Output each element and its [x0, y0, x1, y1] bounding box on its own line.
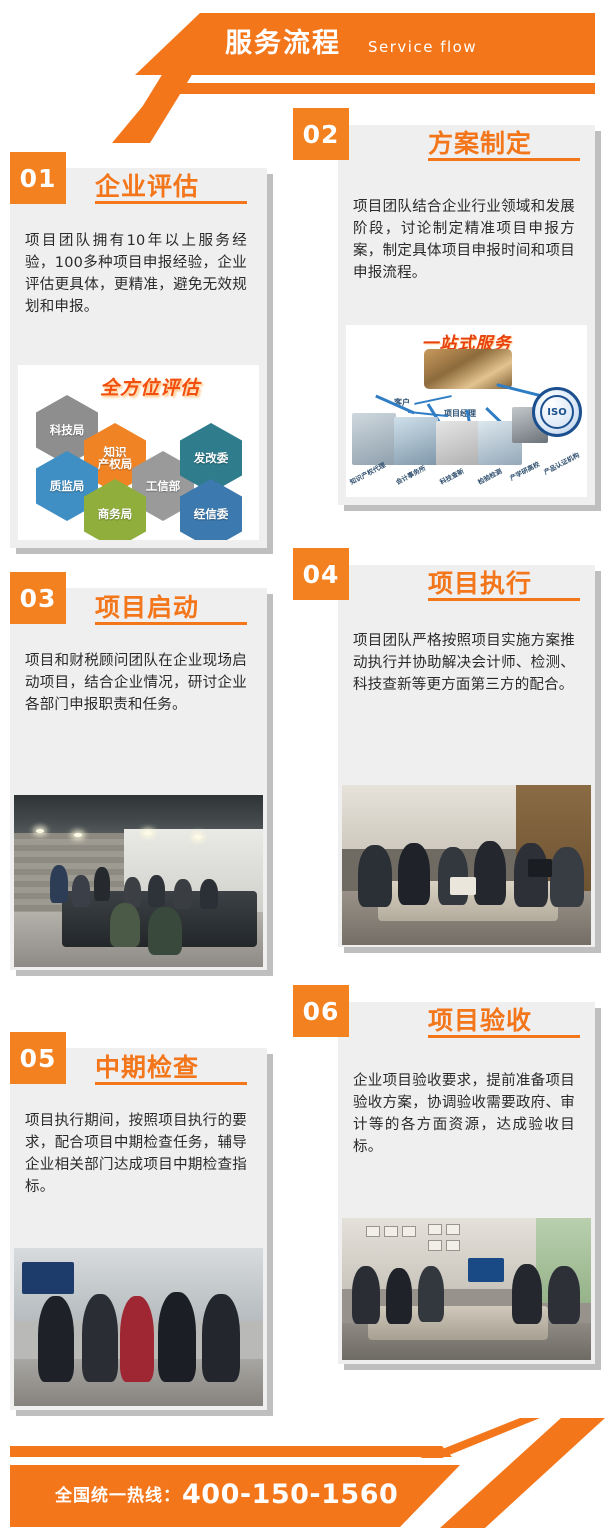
one-stop-node-3: [436, 421, 480, 465]
photo-card-06: [342, 1218, 591, 1360]
display-screen: [468, 1258, 504, 1282]
header-underline-stripe: [0, 83, 595, 94]
wall-frame: [446, 1240, 460, 1251]
one-stop-service-diagram: 一站式服务 客户 项目经理 ISO 知识产权代理 会计事务所 科技查新 检验检测…: [346, 325, 587, 497]
assessment-hex-diagram: 全方位评估 科技局 知识产权局 质监局 工信部 商务局 发改委 经信委: [18, 365, 259, 540]
step-number-badge-06: 06: [293, 985, 349, 1037]
step-number-badge-02: 02: [293, 108, 349, 160]
document-on-table: [450, 877, 476, 895]
ceiling-light-icon: [74, 833, 82, 837]
page-footer: 全国统一热线： 400-150-1560: [0, 1418, 605, 1538]
wall-frame: [366, 1226, 380, 1237]
hotline-number[interactable]: 400-150-1560: [182, 1475, 398, 1515]
ceiling-light-icon: [36, 829, 44, 833]
display-screen: [22, 1262, 74, 1294]
laptop-icon: [528, 859, 552, 877]
step-title-04: 项目执行: [428, 564, 532, 600]
ceiling-light-icon: [194, 835, 202, 839]
step-description-01: 项目团队拥有10年以上服务经验，100多种项目申报经验，企业评估更具体，更精准，…: [25, 230, 247, 318]
step-title-05: 中期检查: [95, 1048, 199, 1084]
person-silhouette: [474, 841, 506, 905]
person-silhouette: [110, 903, 140, 947]
person-silhouette: [50, 865, 68, 903]
step-title-rule-02: [428, 158, 580, 161]
one-stop-service-label-3: 科技查新: [438, 465, 466, 486]
person-silhouette: [398, 843, 430, 905]
step-title-rule-06: [428, 1035, 580, 1038]
hotline-label: 全国统一热线：: [55, 1478, 181, 1514]
ceiling-light-icon: [144, 831, 152, 835]
person-silhouette: [386, 1268, 412, 1324]
step-title-rule-01: [95, 201, 247, 204]
step-description-05: 项目执行期间，按照项目执行的要求，配合项目中期检查任务，辅导企业相关部门达成项目…: [25, 1110, 247, 1198]
step-description-02: 项目团队结合企业行业领域和发展阶段，讨论制定精准项目申报方案，制定具体项目申报时…: [353, 196, 575, 284]
page-subtitle: Service flow: [368, 33, 477, 61]
one-stop-service-label-6: 产品认证机构: [542, 449, 581, 476]
person-silhouette: [512, 1264, 542, 1324]
one-stop-manager-label: 项目经理: [444, 408, 476, 419]
seal-label: ISO: [535, 407, 579, 418]
person-silhouette: [202, 1294, 240, 1382]
one-stop-certification-seal: ISO: [532, 387, 582, 437]
person-silhouette: [174, 879, 192, 909]
one-stop-service-label-2: 会计事务所: [394, 462, 427, 486]
wall-frame: [428, 1224, 442, 1235]
wall-frame: [384, 1226, 398, 1237]
photo-card-04: [342, 785, 591, 945]
step-number-badge-01: 01: [10, 152, 66, 204]
footer-top-stripe: [10, 1446, 595, 1457]
page-title: 服务流程: [225, 20, 341, 68]
person-silhouette: [94, 867, 110, 901]
step-title-rule-03: [95, 622, 247, 625]
person-silhouette: [158, 1292, 196, 1382]
person-silhouette: [352, 1266, 380, 1324]
person-silhouette-red-coat: [120, 1296, 154, 1382]
one-stop-node-1: [352, 413, 396, 465]
one-stop-service-label-4: 检验检测: [476, 465, 504, 486]
step-title-06: 项目验收: [428, 1001, 532, 1037]
person-silhouette: [38, 1296, 74, 1382]
step-title-03: 项目启动: [95, 588, 199, 624]
wall-frame: [428, 1240, 442, 1251]
step-title-rule-04: [428, 598, 580, 601]
person-silhouette: [550, 847, 584, 907]
step-description-04: 项目团队严格按照项目实施方案推动执行并协助解决会计师、检测、科技查新等更方面第三…: [353, 630, 575, 696]
step-title-01: 企业评估: [95, 167, 199, 203]
photo-card-05: [14, 1248, 263, 1406]
person-silhouette: [148, 907, 182, 955]
person-silhouette: [548, 1266, 580, 1324]
person-silhouette: [82, 1294, 118, 1382]
person-silhouette: [438, 847, 468, 905]
wall-frame: [446, 1224, 460, 1235]
person-silhouette: [418, 1266, 444, 1322]
photo-card-03: [14, 795, 263, 967]
wall-frame: [402, 1226, 416, 1237]
person-silhouette: [72, 875, 90, 907]
step-description-03: 项目和财税顾问团队在企业现场启动项目，结合企业情况，研讨企业各部门申报职责和任务…: [25, 650, 247, 716]
page-header: 服务流程 Service flow: [0, 0, 605, 108]
one-stop-arrow-1: [414, 395, 452, 405]
person-silhouette: [358, 845, 392, 907]
step-title-rule-05: [95, 1082, 247, 1085]
hex-diagram-title: 全方位评估: [100, 373, 200, 400]
step-number-badge-03: 03: [10, 572, 66, 624]
person-silhouette: [148, 875, 165, 907]
one-stop-node-2: [394, 417, 438, 465]
step-number-badge-05: 05: [10, 1032, 66, 1084]
person-silhouette: [200, 879, 218, 909]
step-title-02: 方案制定: [428, 124, 532, 160]
step-description-06: 企业项目验收要求，提前准备项目验收方案，协调验收需要政府、审计等的各方面资源，达…: [353, 1070, 575, 1158]
step-number-badge-04: 04: [293, 548, 349, 600]
